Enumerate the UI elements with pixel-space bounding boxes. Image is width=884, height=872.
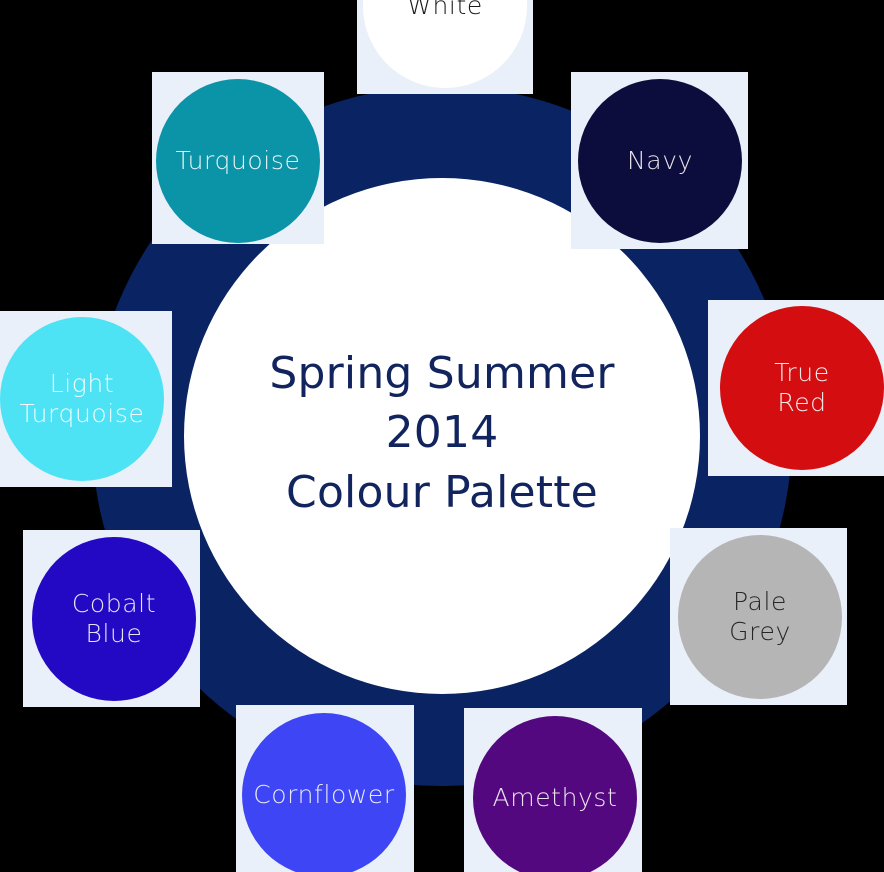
swatch-tile-amethyst[interactable]: Amethyst: [464, 708, 642, 872]
colour-label-amethyst: Amethyst: [473, 783, 637, 814]
colour-disc-turquoise[interactable]: Turquoise: [156, 79, 320, 243]
colour-label-cornflower: Cornflower: [242, 780, 406, 811]
colour-label-cobalt-blue: Cobalt Blue: [32, 589, 196, 650]
colour-label-light-turquoise: Light Turquoise: [0, 369, 164, 430]
swatch-tile-navy[interactable]: Navy: [571, 72, 748, 249]
swatch-tile-cobalt-blue[interactable]: Cobalt Blue: [23, 530, 200, 707]
colour-label-white: White: [363, 0, 527, 21]
swatch-tile-true-red[interactable]: True Red: [708, 300, 884, 476]
colour-disc-cobalt-blue[interactable]: Cobalt Blue: [32, 537, 196, 701]
colour-disc-amethyst[interactable]: Amethyst: [473, 716, 637, 872]
colour-disc-true-red[interactable]: True Red: [720, 306, 884, 470]
colour-disc-navy[interactable]: Navy: [578, 79, 742, 243]
colour-disc-white[interactable]: White: [363, 0, 527, 88]
colour-disc-cornflower[interactable]: Cornflower: [242, 713, 406, 872]
colour-disc-light-turquoise[interactable]: Light Turquoise: [0, 317, 164, 481]
colour-label-true-red: True Red: [720, 358, 884, 419]
palette-title: Spring Summer 2014 Colour Palette: [212, 344, 672, 522]
colour-disc-pale-grey[interactable]: Pale Grey: [678, 535, 842, 699]
swatch-tile-light-turquoise[interactable]: Light Turquoise: [0, 311, 172, 487]
swatch-tile-white[interactable]: White: [357, 0, 533, 94]
colour-label-pale-grey: Pale Grey: [678, 587, 842, 648]
swatch-tile-turquoise[interactable]: Turquoise: [152, 72, 324, 244]
swatch-tile-pale-grey[interactable]: Pale Grey: [670, 528, 847, 705]
colour-label-turquoise: Turquoise: [156, 146, 320, 177]
colour-palette-canvas: Spring Summer 2014 Colour Palette WhiteN…: [0, 0, 884, 872]
colour-label-navy: Navy: [578, 146, 742, 177]
swatch-tile-cornflower[interactable]: Cornflower: [236, 705, 414, 872]
